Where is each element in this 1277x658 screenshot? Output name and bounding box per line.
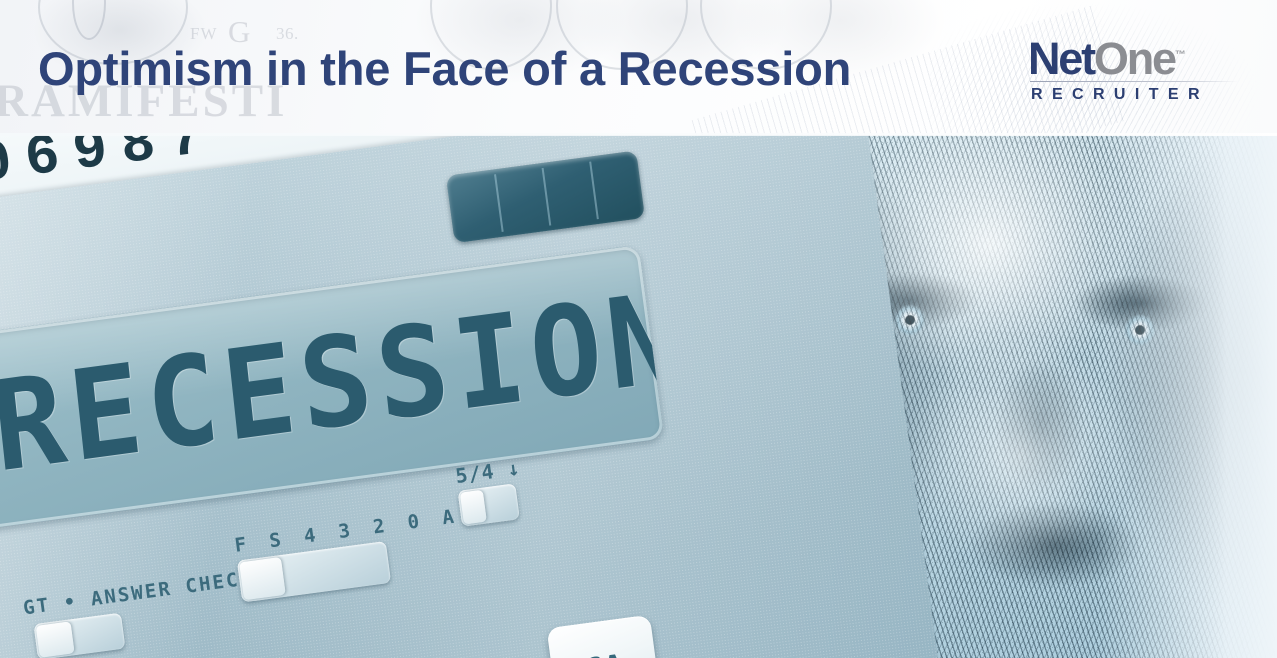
portrait-right-fade — [1097, 135, 1277, 658]
hero-photo: 06987 RECESSION GT • ANSWER CHECK F S 4 … — [0, 135, 1277, 658]
netone-recruiter-logo[interactable]: NetOne™ RECRUITER — [1028, 31, 1244, 109]
trademark-icon: ™ — [1175, 49, 1186, 61]
header-photo-divider — [0, 133, 1277, 136]
page-title: Optimism in the Face of a Recession — [38, 41, 851, 96]
logo-wordmark: NetOne™ — [1028, 31, 1244, 79]
banner-graphic: 06987 RECESSION GT • ANSWER CHECK F S 4 … — [0, 0, 1277, 658]
logo-divider-rule — [1030, 81, 1238, 82]
logo-net-text: Net — [1028, 33, 1094, 84]
logo-tagline: RECRUITER — [1031, 86, 1209, 104]
calculator-body: RECESSION GT • ANSWER CHECK F S 4 3 2 0 … — [0, 135, 962, 658]
logo-one-text: One — [1094, 33, 1175, 84]
rounding-mode-switch — [458, 483, 520, 526]
banner-header: RAMIFESTI FW G 36. Optimism in the Face … — [0, 0, 1277, 135]
